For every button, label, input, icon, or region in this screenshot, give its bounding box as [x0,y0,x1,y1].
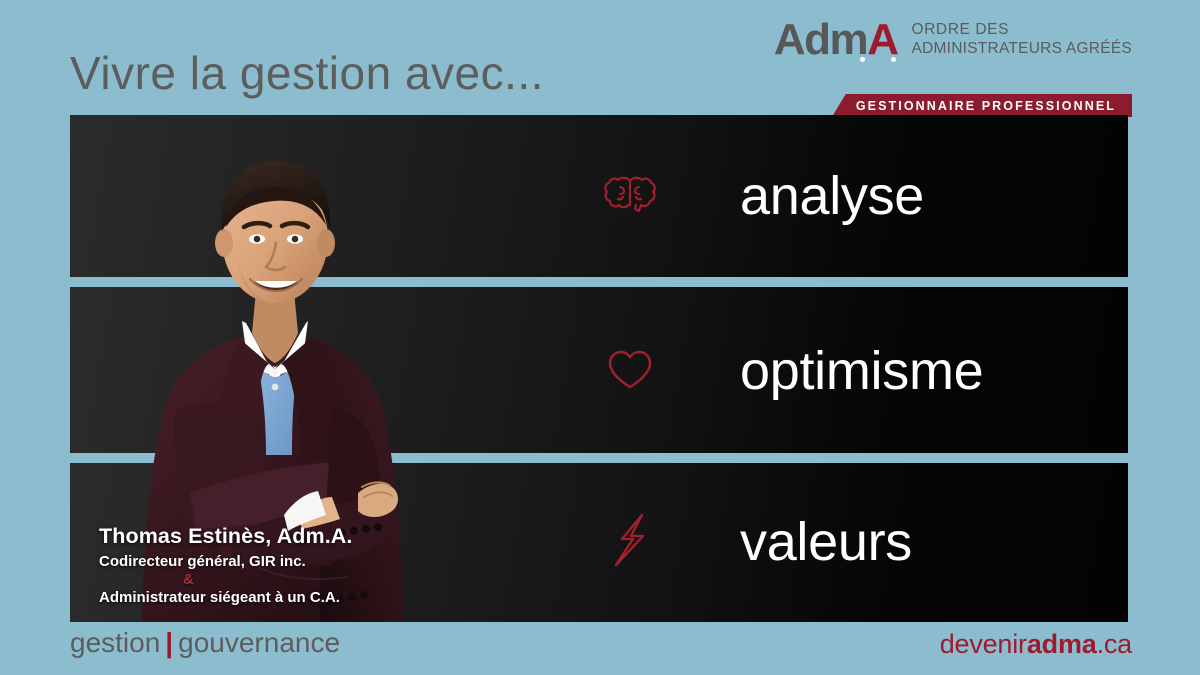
speaker-role-primary: Codirecteur général, GIR inc. [99,553,352,570]
value-band-optimisme: optimisme [70,287,1128,453]
url-brand: adma [1027,629,1097,659]
certification-ribbon: GESTIONNAIRE PROFESSIONNEL [832,94,1132,117]
heart-icon [597,341,663,399]
lightning-bolt-icon [597,509,663,571]
url-prefix: devenir [940,629,1027,659]
footer-tagline: gestion|gouvernance [70,627,340,659]
logo-tagline-line1: ORDRE DES [911,21,1132,40]
page-title: Vivre la gestion avec... [70,46,544,100]
footer-tagline-gouvernance: gouvernance [178,627,340,658]
speaker-credit: Thomas Estinès, Adm.A. Codirecteur génér… [99,524,352,606]
adma-logo: AdmA ORDRE DES ADMINISTRATEURS AGRÉÉS GE… [754,18,1132,104]
value-band-analyse: analyse [70,115,1128,277]
logo-tagline-line2: ADMINISTRATEURS AGRÉÉS [911,40,1132,59]
url-suffix: .ca [1097,629,1132,659]
logo-row: AdmA ORDRE DES ADMINISTRATEURS AGRÉÉS [754,18,1132,62]
logo-tagline: ORDRE DES ADMINISTRATEURS AGRÉÉS [911,21,1132,59]
logo-wordmark-accent: A [867,15,897,64]
band-label-optimisme: optimisme [740,340,983,402]
logo-wordmark: AdmA [774,18,898,62]
logo-wordmark-prefix: Adm [774,15,867,64]
website-url[interactable]: deveniradma.ca [940,629,1132,660]
brain-icon [597,167,663,225]
poster-canvas: Vivre la gestion avec... AdmA ORDRE DES … [0,0,1200,675]
speaker-role-secondary: Administrateur siégeant à un C.A. [99,589,352,606]
footer-tagline-gestion: gestion [70,627,160,658]
footer-tagline-separator: | [165,627,173,658]
credit-ampersand: & [183,571,352,588]
band-label-analyse: analyse [740,165,924,227]
band-label-valeurs: valeurs [740,511,912,573]
speaker-name: Thomas Estinès, Adm.A. [99,524,352,549]
